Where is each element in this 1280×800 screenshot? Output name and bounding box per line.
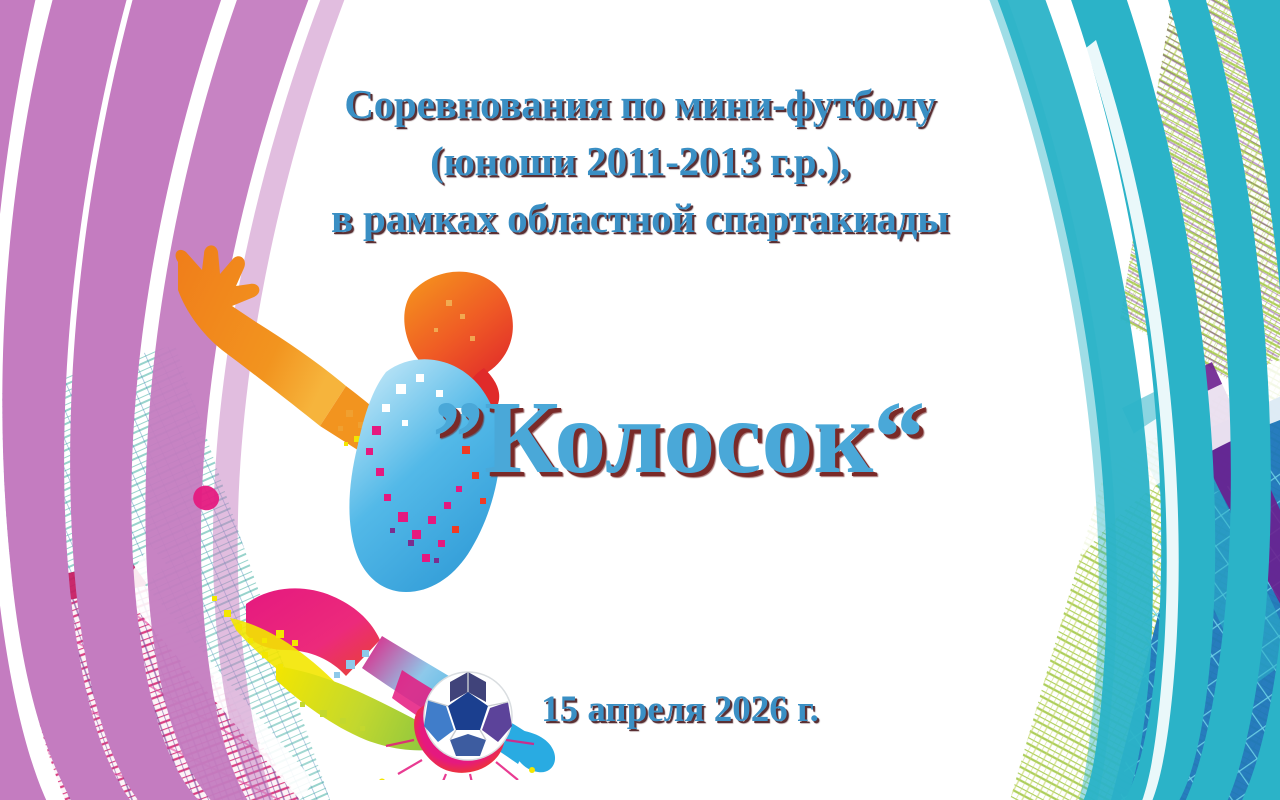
headline-line-2: (юноши 2011-2013 г.р.), [0, 133, 1280, 190]
headline-line-1: Соревнования по мини-футболу [0, 76, 1280, 133]
brand-name: ”Колосок“ [432, 386, 925, 490]
player-leg-rear [246, 588, 380, 678]
magenta-splash [193, 486, 219, 511]
player-arm-raised [176, 245, 405, 454]
headline-line-3: в рамках областной спартакиады [0, 190, 1280, 247]
event-date: 15 апреля 2026 г. [0, 688, 1280, 732]
event-date-value: 15 апреля 2026 г. [541, 688, 819, 732]
poster-canvas: Соревнования по мини-футболу (юноши 2011… [0, 0, 1280, 800]
headline-block: Соревнования по мини-футболу (юноши 2011… [0, 76, 1280, 247]
